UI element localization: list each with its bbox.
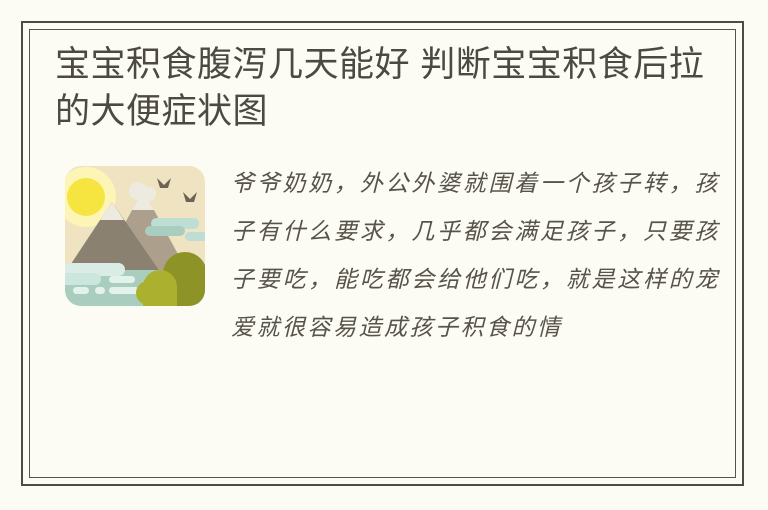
article-body-row: 爷爷奶奶，外公外婆就围着一个孩子转，孩子有什么要求，几乎都会满足孩子，只要孩子要… bbox=[55, 160, 720, 395]
article-card: 宝宝积食腹泻几天能好 判断宝宝积食后拉的大便症状图 bbox=[21, 21, 744, 486]
article-excerpt: 爷爷奶奶，外公外婆就围着一个孩子转，孩子有什么要求，几乎都会满足孩子，只要孩子要… bbox=[231, 160, 720, 352]
article-content: 宝宝积食腹泻几天能好 判断宝宝积食后拉的大便症状图 bbox=[23, 23, 742, 484]
page-title: 宝宝积食腹泻几天能好 判断宝宝积食后拉的大便症状图 bbox=[55, 41, 720, 135]
article-excerpt-wrap: 爷爷奶奶，外公外婆就围着一个孩子转，孩子有什么要求，几乎都会满足孩子，只要孩子要… bbox=[231, 160, 720, 395]
mountain-landscape-icon bbox=[59, 160, 211, 312]
article-thumbnail bbox=[59, 160, 211, 312]
